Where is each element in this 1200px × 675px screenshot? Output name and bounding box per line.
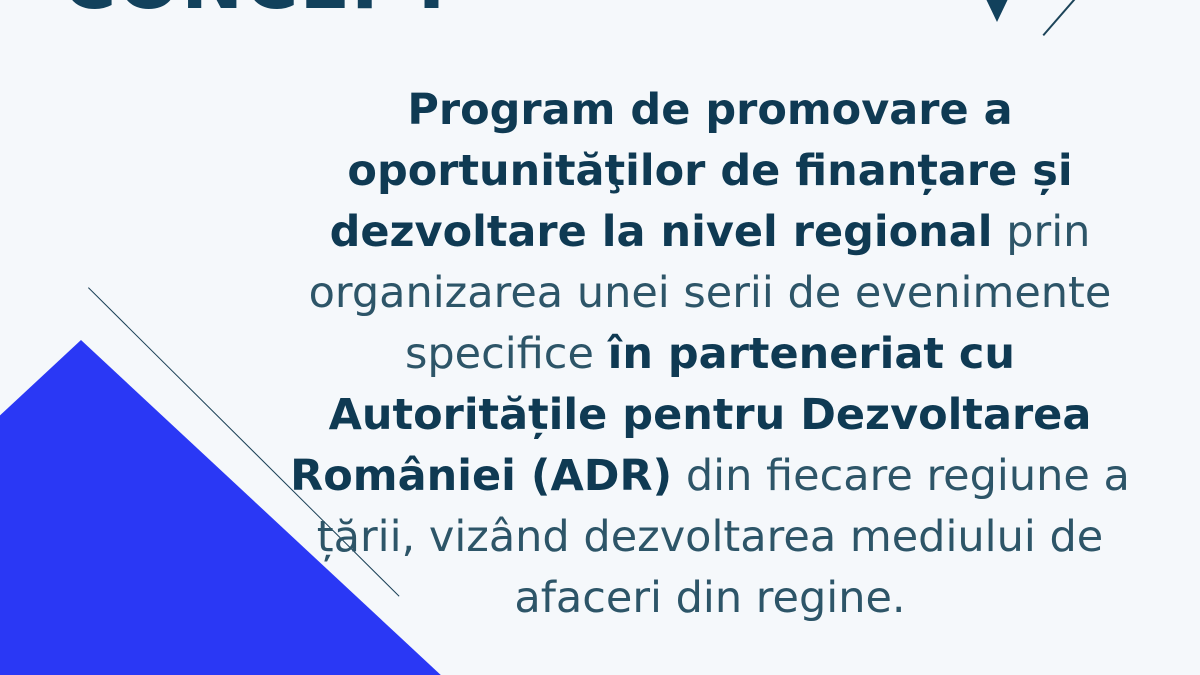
slide-canvas: CONCEPT Program de promovare a oportunit… (0, 0, 1200, 675)
diagonal-line-right-decoration (1042, 0, 1092, 36)
diamond-marker-icon (975, 0, 1019, 22)
page-title: CONCEPT (62, 0, 458, 20)
concept-paragraph: Program de promovare a oportunităţilor d… (260, 80, 1160, 629)
concept-paragraph-bold-1: Program de promovare a oportunităţilor d… (330, 85, 1073, 257)
